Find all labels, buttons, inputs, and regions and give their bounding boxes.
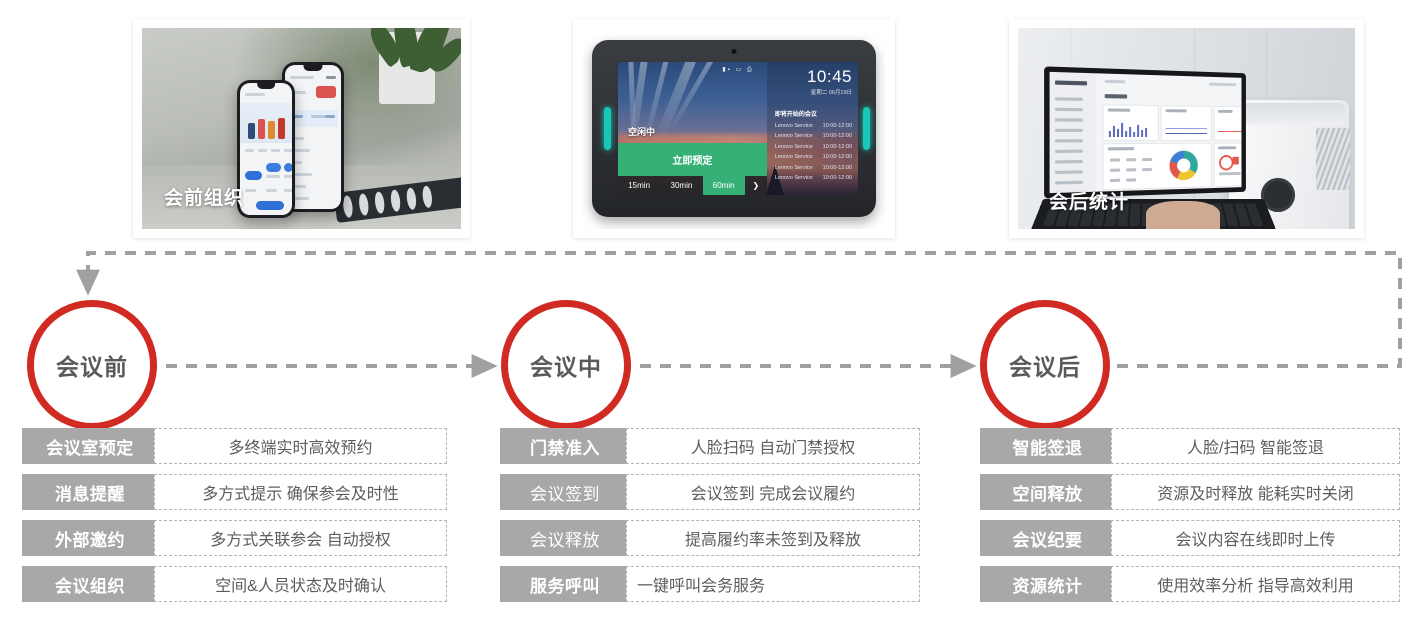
- duration-options: 15min 30min 60min ❯: [618, 176, 767, 195]
- duration-option-15min[interactable]: 15min: [618, 176, 660, 195]
- meeting-name: Lenovo Service: [775, 133, 813, 139]
- feature-row[interactable]: 消息提醒 多方式提示 确保参会及时性: [22, 474, 447, 510]
- meeting-time: 10:00-12:00: [823, 165, 852, 171]
- status-bar-icons: ▮▪ ▭ ⎙: [722, 66, 753, 74]
- phone-front-screen: [240, 83, 292, 215]
- feature-column-during-meeting: 门禁准入 人脸扫码 自动门禁授权 会议签到 会议签到 完成会议履约 会议释放 提…: [500, 428, 920, 612]
- feature-row[interactable]: 会议室预定 多终端实时高效预约: [22, 428, 447, 464]
- feature-description: 多终端实时高效预约: [154, 428, 447, 464]
- feature-row[interactable]: 外部邀约 多方式关联参会 自动授权: [22, 520, 447, 556]
- meeting-name: Lenovo Service: [775, 154, 813, 160]
- feature-badge[interactable]: 资源统计: [980, 566, 1115, 602]
- feature-badge[interactable]: 智能签退: [980, 428, 1115, 464]
- feature-row[interactable]: 会议释放 提高履约率未签到及释放: [500, 520, 920, 556]
- feature-row[interactable]: 会议组织 空间&人员状态及时确认: [22, 566, 447, 602]
- feature-description: 多方式关联参会 自动授权: [154, 520, 447, 556]
- photo-caption-pre-meeting: 会前组织: [164, 183, 244, 210]
- photo-card-meeting-panel: ▮▪ ▭ ⎙ 10:45 星期二 06月19日 即将开始的会议 Lenovo S…: [573, 19, 895, 238]
- feature-badge[interactable]: 会议签到: [500, 474, 630, 510]
- photo-2-image: ▮▪ ▭ ⎙ 10:45 星期二 06月19日 即将开始的会议 Lenovo S…: [582, 28, 886, 229]
- feature-badge[interactable]: 空间释放: [980, 474, 1115, 510]
- feature-badge[interactable]: 服务呼叫: [500, 566, 630, 602]
- room-status-panel: 空闲中 立即预定 15min 30min 60min ❯: [618, 125, 767, 195]
- feature-description: 资源及时释放 能耗实时关闭: [1111, 474, 1400, 510]
- flow-node-label: 会议后: [1009, 348, 1081, 382]
- meeting-time: 10:00-12:00: [823, 133, 852, 139]
- photo-caption-post-meeting: 会后统计: [1049, 187, 1129, 214]
- feature-row[interactable]: 服务呼叫 一键呼叫会务服务: [500, 566, 920, 602]
- meeting-name: Lenovo Service: [775, 123, 813, 129]
- feature-row[interactable]: 门禁准入 人脸扫码 自动门禁授权: [500, 428, 920, 464]
- meeting-time: 10:00-12:00: [823, 154, 852, 160]
- clock-panel: 10:45 星期二 06月19日 即将开始的会议 Lenovo Service …: [767, 62, 858, 195]
- feature-badge[interactable]: 消息提醒: [22, 474, 158, 510]
- dashboard-card: [1103, 104, 1159, 141]
- feature-row[interactable]: 智能签退 人脸/扫码 智能签退: [980, 428, 1400, 464]
- ring-chart: [1219, 155, 1233, 171]
- room-status-text: 空闲中: [618, 125, 767, 143]
- feature-description: 会议签到 完成会议履约: [626, 474, 920, 510]
- meeting-list-item: Lenovo Service 10:00-12:00: [775, 165, 852, 171]
- laptop-screen: [1044, 66, 1246, 198]
- meeting-list-item: Lenovo Service 10:00-12:00: [775, 154, 852, 160]
- meeting-name: Lenovo Service: [775, 144, 813, 150]
- feature-description: 空间&人员状态及时确认: [154, 566, 447, 602]
- meeting-list-item: Lenovo Service 10:00-12:00: [775, 144, 852, 150]
- feature-description: 一键呼叫会务服务: [626, 566, 920, 602]
- meeting-time: 10:00-12:00: [823, 144, 852, 150]
- camera-icon: [732, 49, 737, 54]
- feedback-loop-connector: [88, 253, 1400, 366]
- donut-chart: [1169, 151, 1197, 181]
- flow-connectors: [0, 240, 1423, 440]
- flow-node-label: 会议前: [56, 348, 128, 382]
- book-now-button[interactable]: 立即预定: [618, 143, 767, 176]
- feature-badge[interactable]: 会议纪要: [980, 520, 1115, 556]
- feature-description: 提高履约率未签到及释放: [626, 520, 920, 556]
- phone-front: [237, 80, 295, 218]
- dashboard-card: [1214, 106, 1242, 141]
- dashboard-ui: [1050, 72, 1242, 193]
- meeting-name: Lenovo Service: [775, 165, 813, 171]
- feature-description: 多方式提示 确保参会及时性: [154, 474, 447, 510]
- status-led-left: [604, 107, 611, 149]
- flow-node-pre-meeting[interactable]: 会议前: [27, 300, 157, 430]
- flow-node-during-meeting[interactable]: 会议中: [501, 300, 631, 430]
- feature-column-post-meeting: 智能签退 人脸/扫码 智能签退 空间释放 资源及时释放 能耗实时关闭 会议纪要 …: [980, 428, 1400, 612]
- dashboard-card: [1214, 142, 1242, 187]
- meeting-time: 10:00-12:00: [823, 123, 852, 129]
- feature-badge[interactable]: 门禁准入: [500, 428, 630, 464]
- feature-description: 使用效率分析 指导高效利用: [1111, 566, 1400, 602]
- photo-card-post-meeting: 会后统计: [1009, 19, 1364, 238]
- chevron-right-icon[interactable]: ❯: [745, 176, 767, 195]
- feature-description: 人脸/扫码 智能签退: [1111, 428, 1400, 464]
- tablet-screen: ▮▪ ▭ ⎙ 10:45 星期二 06月19日 即将开始的会议 Lenovo S…: [618, 62, 858, 195]
- clock-time: 10:45: [775, 68, 852, 85]
- hand: [1146, 201, 1220, 229]
- feature-badge[interactable]: 会议组织: [22, 566, 158, 602]
- feature-description: 会议内容在线即时上传: [1111, 520, 1400, 556]
- clock-date: 星期二 06月19日: [775, 88, 852, 96]
- meeting-list-item: Lenovo Service 10:00-12:00: [775, 123, 852, 129]
- meeting-list-item: Lenovo Service 10:00-12:00: [775, 175, 852, 181]
- feature-row[interactable]: 空间释放 资源及时释放 能耗实时关闭: [980, 474, 1400, 510]
- flow-node-post-meeting[interactable]: 会议后: [980, 300, 1110, 430]
- duration-option-30min[interactable]: 30min: [660, 176, 702, 195]
- meeting-list-item: Lenovo Service 10:00-12:00: [775, 133, 852, 139]
- feature-row[interactable]: 会议纪要 会议内容在线即时上传: [980, 520, 1400, 556]
- photo-card-pre-meeting: 会前组织: [133, 19, 470, 238]
- feature-description: 人脸扫码 自动门禁授权: [626, 428, 920, 464]
- feature-row[interactable]: 会议签到 会议签到 完成会议履约: [500, 474, 920, 510]
- duration-option-60min[interactable]: 60min: [703, 176, 745, 195]
- dashboard-sidebar: [1050, 72, 1096, 193]
- status-led-right: [863, 107, 870, 149]
- dashboard-card: [1103, 143, 1212, 191]
- flow-node-label: 会议中: [530, 348, 602, 382]
- meeting-name: Lenovo Service: [775, 175, 813, 181]
- dashboard-card: [1161, 105, 1212, 141]
- feature-badge[interactable]: 会议释放: [500, 520, 630, 556]
- feature-column-pre-meeting: 会议室预定 多终端实时高效预约 消息提醒 多方式提示 确保参会及时性 外部邀约 …: [22, 428, 447, 612]
- meeting-room-tablet: ▮▪ ▭ ⎙ 10:45 星期二 06月19日 即将开始的会议 Lenovo S…: [592, 40, 876, 217]
- upcoming-meetings-title: 即将开始的会议: [775, 109, 852, 118]
- feature-badge[interactable]: 外部邀约: [22, 520, 158, 556]
- feature-badge[interactable]: 会议室预定: [22, 428, 158, 464]
- meeting-time: 10:00-12:00: [823, 175, 852, 181]
- feature-row[interactable]: 资源统计 使用效率分析 指导高效利用: [980, 566, 1400, 602]
